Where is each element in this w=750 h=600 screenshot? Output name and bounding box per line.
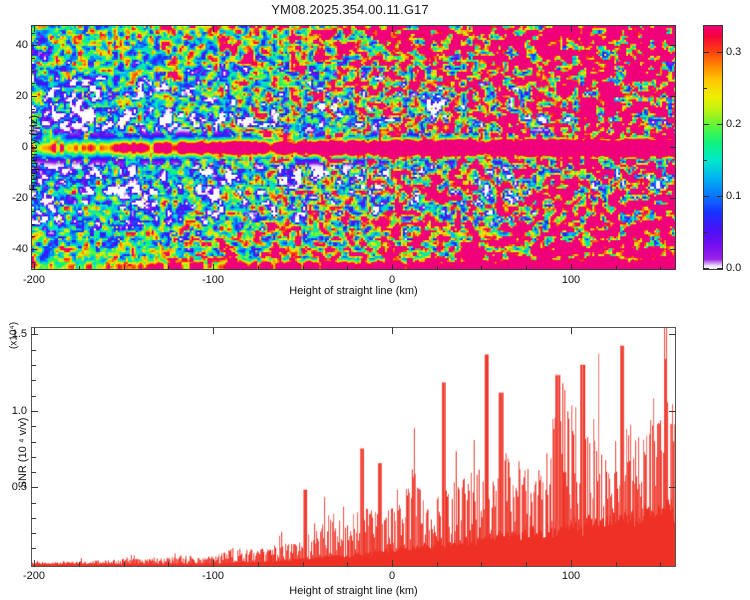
colorbar-gradient bbox=[703, 25, 723, 270]
snr-xtick-label-100: 100 bbox=[562, 570, 580, 582]
spec-xtick-neg100 bbox=[213, 264, 214, 270]
spec-xtick-100 bbox=[571, 264, 572, 270]
snr-xtick-minor bbox=[258, 562, 259, 567]
spec-xtick-minor bbox=[347, 266, 348, 270]
snr-ytick-minor bbox=[31, 457, 36, 458]
snr-ytick-label-15: 1.5 bbox=[1, 328, 27, 340]
spec-ytick-0-right bbox=[670, 147, 676, 148]
spec-ytick-label-0: 0 bbox=[2, 141, 28, 153]
snr-ytick-minor bbox=[31, 548, 36, 549]
spec-ytick-label-40: 40 bbox=[2, 39, 28, 51]
snr-y-axis-title: SNR (10 ⁴ v/v) bbox=[17, 388, 29, 518]
spectrogram-plot-area bbox=[31, 25, 676, 270]
snr-ytick-10-right bbox=[669, 411, 676, 412]
snr-ytick-minor bbox=[31, 518, 36, 519]
colorbar-tick-label-0: 0.0 bbox=[726, 262, 741, 274]
snr-xtick-neg100 bbox=[213, 560, 214, 567]
colorbar-tick-0-right bbox=[717, 268, 723, 269]
snr-ytick-minor bbox=[31, 380, 36, 381]
colorbar-tick-label-01: 0.1 bbox=[726, 190, 741, 202]
colorbar-tick-minor bbox=[703, 232, 707, 233]
snr-xtick-label-0: 0 bbox=[389, 570, 395, 582]
snr-ytick-minor bbox=[31, 350, 36, 351]
snr-xtick-minor bbox=[481, 562, 482, 567]
snr-xtick-label-neg200: -200 bbox=[23, 570, 45, 582]
spectrogram-x-axis-title: Height of straight line (km) bbox=[31, 285, 676, 297]
snr-xtick-neg200-top bbox=[34, 327, 35, 334]
snr-ytick-minor bbox=[31, 442, 36, 443]
spec-xtick-neg200-top bbox=[34, 26, 35, 32]
snr-xtick-0-top bbox=[392, 327, 393, 334]
spec-ytick-label-20: 20 bbox=[2, 90, 28, 102]
colorbar-tick-0 bbox=[703, 268, 709, 269]
spec-xtick-neg100-top bbox=[213, 26, 214, 32]
spectrogram-image bbox=[32, 26, 675, 269]
snr-ytick-minor bbox=[31, 533, 36, 534]
snr-ytick-minor bbox=[31, 472, 36, 473]
spec-ytick-minor bbox=[31, 58, 35, 59]
snr-trace bbox=[32, 328, 675, 566]
snr-xtick-minor bbox=[124, 562, 125, 567]
spec-xtick-minor bbox=[481, 266, 482, 270]
colorbar-tick-01-right bbox=[717, 196, 723, 197]
snr-ytick-05 bbox=[31, 487, 38, 488]
colorbar-tick-minor bbox=[703, 88, 707, 89]
spec-xtick-100-top bbox=[571, 26, 572, 32]
spec-xtick-minor bbox=[437, 266, 438, 270]
colorbar-tick-01 bbox=[703, 196, 709, 197]
spec-ytick-neg40 bbox=[31, 249, 37, 250]
colorbar-tick-03 bbox=[703, 52, 709, 53]
spec-ytick-neg20-right bbox=[670, 198, 676, 199]
colorbar-tick-minor bbox=[703, 160, 707, 161]
snr-ytick-15 bbox=[31, 334, 38, 335]
snr-xtick-minor bbox=[347, 562, 348, 567]
spec-ytick-minor bbox=[31, 83, 35, 84]
snr-ytick-minor bbox=[31, 426, 36, 427]
spec-ytick-minor bbox=[31, 224, 35, 225]
colorbar-tick-label-03: 0.3 bbox=[726, 46, 741, 58]
spec-ytick-40 bbox=[31, 45, 37, 46]
spec-ytick-label-neg20: -20 bbox=[2, 192, 28, 204]
spec-ytick-40-right bbox=[670, 45, 676, 46]
spec-xtick-minor bbox=[616, 266, 617, 270]
snr-xtick-minor bbox=[79, 562, 80, 567]
colorbar bbox=[703, 25, 723, 270]
spec-xtick-0-top bbox=[392, 26, 393, 32]
figure-canvas: YM08.2025.354.00.11.G17 40 20 0 -20 -40 … bbox=[0, 0, 750, 600]
spec-ytick-minor bbox=[31, 262, 35, 263]
spec-ytick-minor bbox=[31, 236, 35, 237]
spec-ytick-neg40-right bbox=[670, 249, 676, 250]
snr-ytick-minor bbox=[31, 503, 36, 504]
snr-ytick-10 bbox=[31, 411, 38, 412]
snr-ytick-05-right bbox=[669, 487, 676, 488]
page-title: YM08.2025.354.00.11.G17 bbox=[0, 2, 700, 17]
spec-ytick-20-right bbox=[670, 96, 676, 97]
snr-xtick-minor bbox=[168, 562, 169, 567]
snr-xtick-0 bbox=[392, 560, 393, 567]
spec-xtick-minor bbox=[124, 266, 125, 270]
snr-ytick-minor bbox=[31, 396, 36, 397]
spec-xtick-minor bbox=[258, 266, 259, 270]
snr-x-axis-title: Height of straight line (km) bbox=[31, 585, 676, 597]
snr-xtick-minor bbox=[616, 562, 617, 567]
spec-ytick-minor bbox=[31, 33, 35, 34]
spec-xtick-minor bbox=[526, 266, 527, 270]
snr-xtick-neg200 bbox=[34, 560, 35, 567]
spec-xtick-minor bbox=[79, 266, 80, 270]
snr-ytick-minor bbox=[31, 365, 36, 366]
snr-plot-area bbox=[31, 327, 676, 567]
spec-xtick-minor bbox=[660, 266, 661, 270]
snr-xtick-minor bbox=[526, 562, 527, 567]
spec-xtick-minor bbox=[303, 266, 304, 270]
spec-xtick-neg200 bbox=[34, 264, 35, 270]
snr-xtick-minor bbox=[437, 562, 438, 567]
spec-ytick-label-neg40: -40 bbox=[2, 243, 28, 255]
colorbar-tick-02-right bbox=[717, 124, 723, 125]
spec-xtick-minor bbox=[168, 266, 169, 270]
spec-xtick-0 bbox=[392, 264, 393, 270]
spec-ytick-minor bbox=[31, 71, 35, 72]
snr-ytick-15-right bbox=[669, 334, 676, 335]
snr-xtick-100-top bbox=[571, 327, 572, 334]
snr-xtick-minor bbox=[660, 562, 661, 567]
snr-xtick-minor bbox=[303, 562, 304, 567]
spectrogram-y-axis-title: Frequency (Hz) bbox=[28, 93, 40, 213]
colorbar-tick-03-right bbox=[717, 52, 723, 53]
colorbar-tick-label-02: 0.2 bbox=[726, 118, 741, 130]
snr-xtick-neg100-top bbox=[213, 327, 214, 334]
snr-xtick-label-neg100: -100 bbox=[202, 570, 224, 582]
snr-xtick-100 bbox=[571, 560, 572, 567]
colorbar-tick-02 bbox=[703, 124, 709, 125]
